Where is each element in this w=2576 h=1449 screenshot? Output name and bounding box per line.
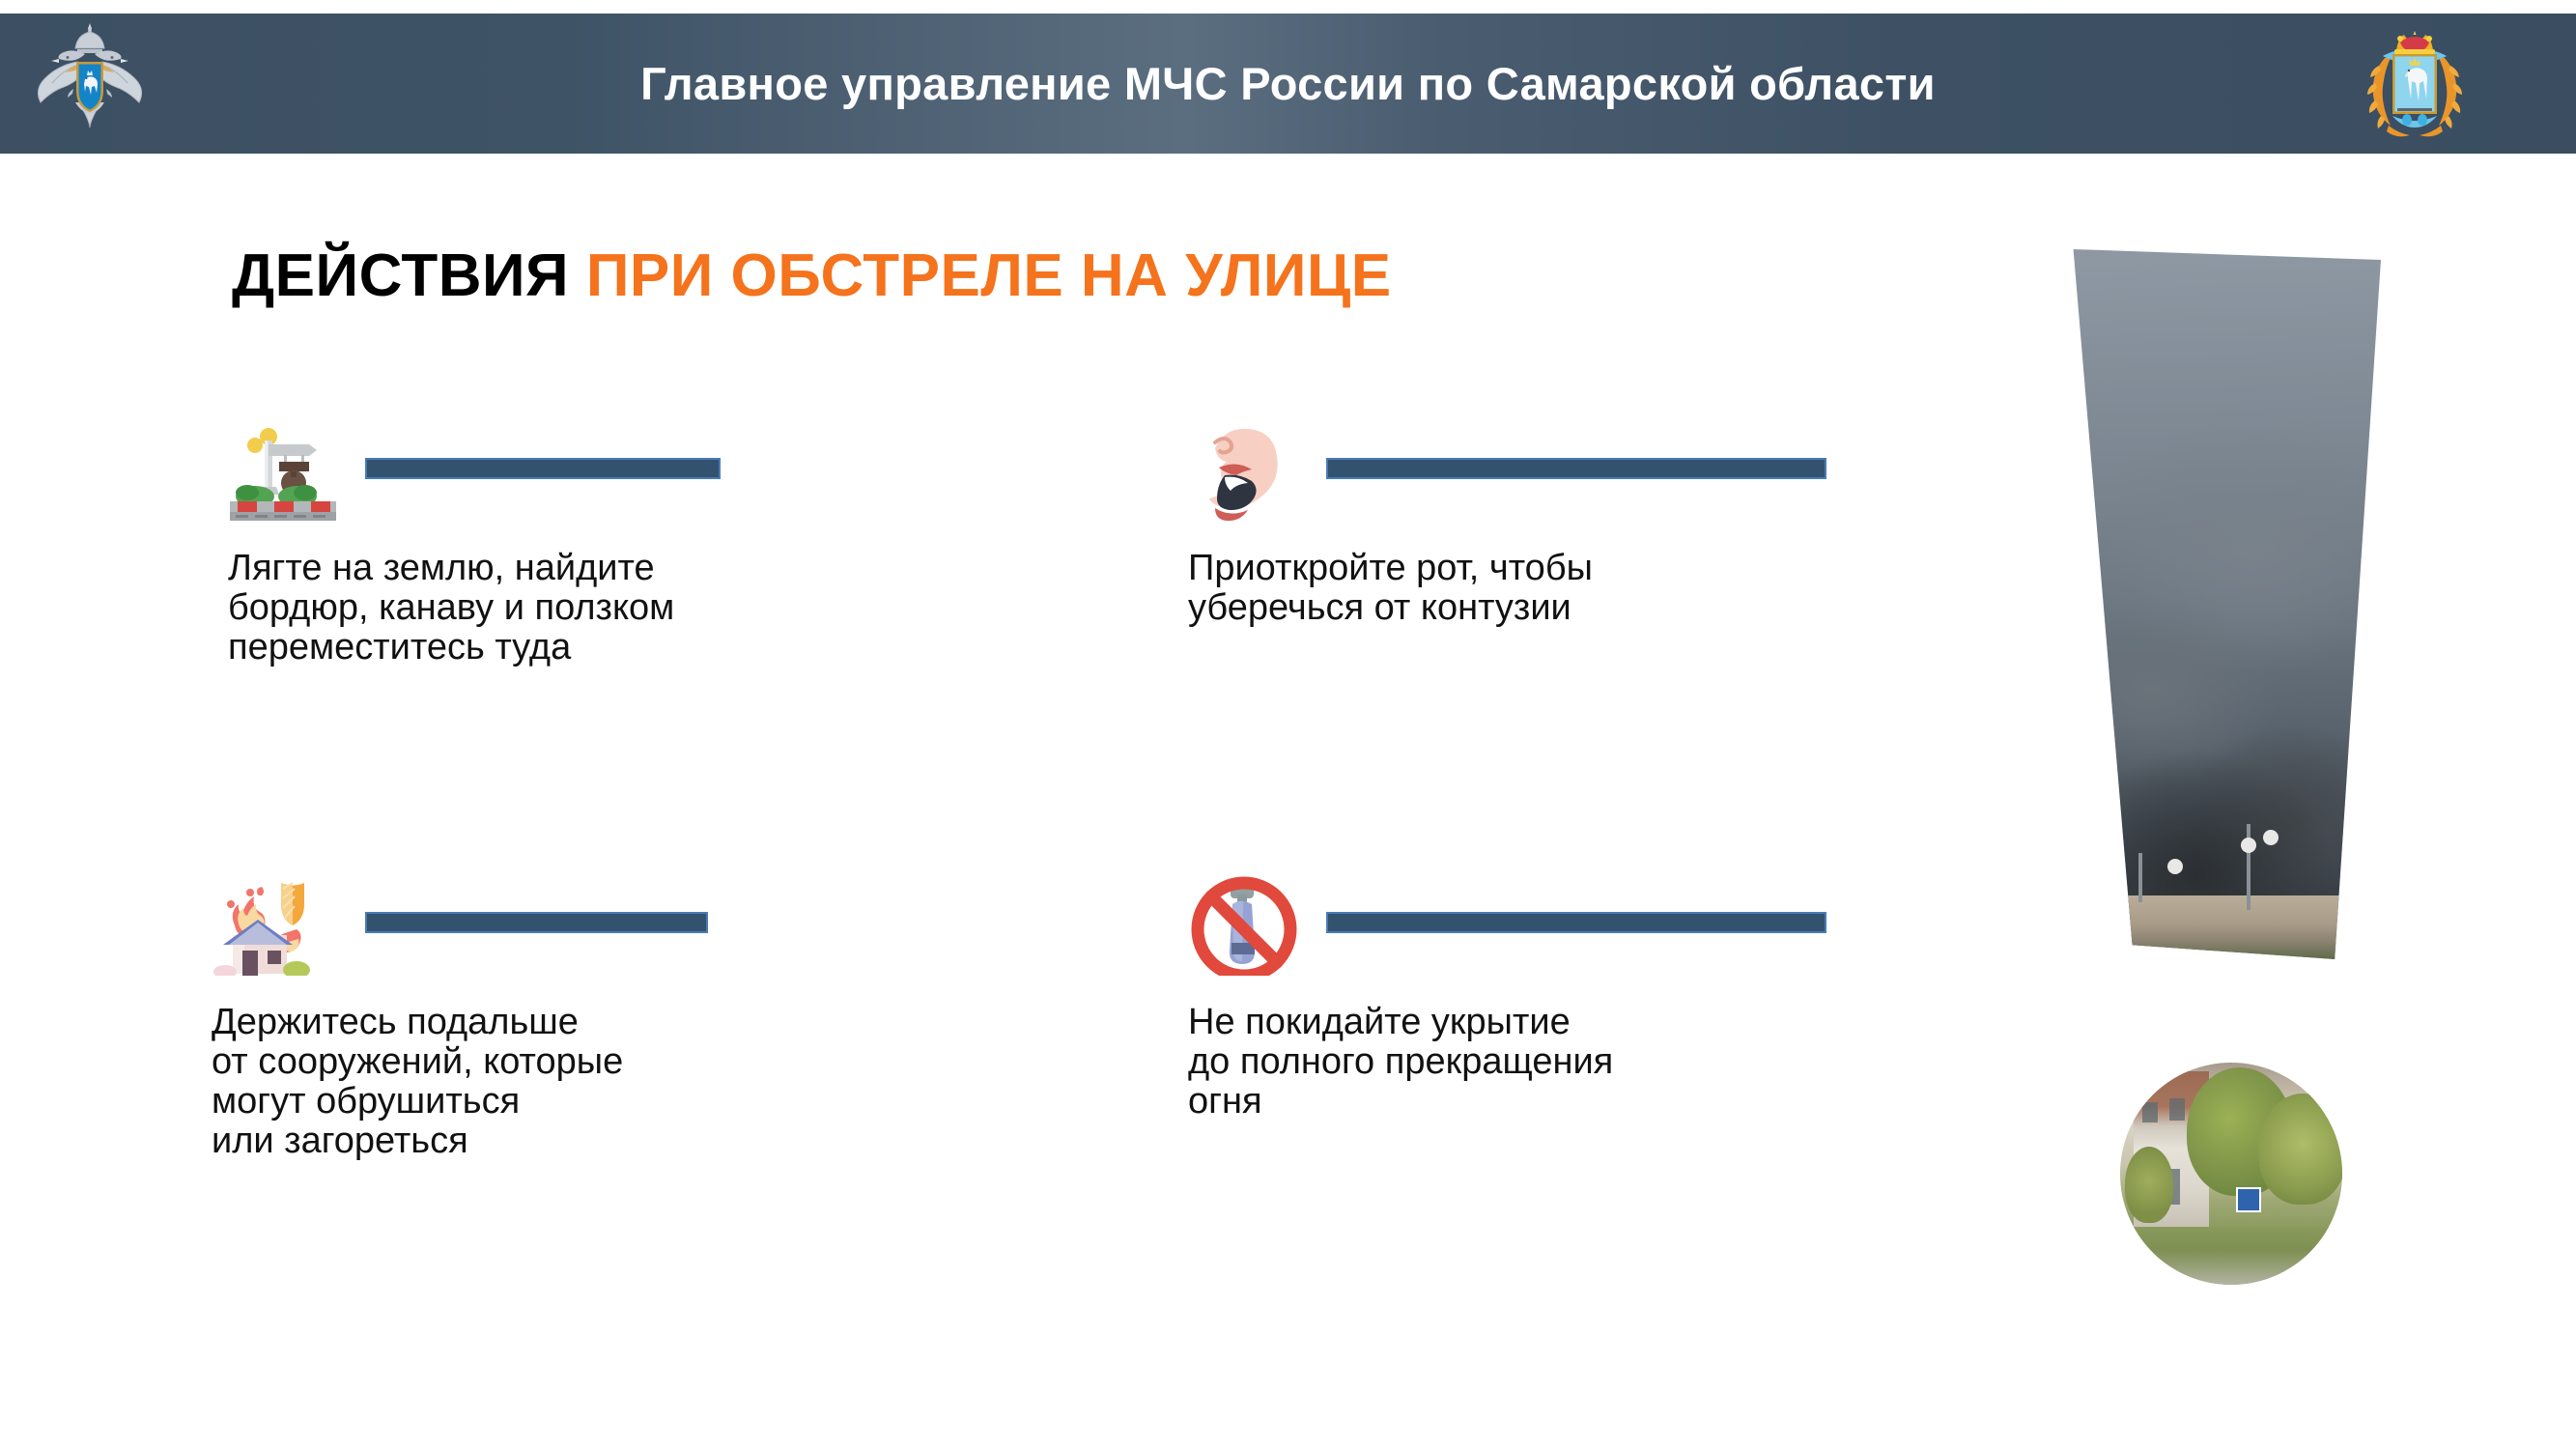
card-1-text: Лягте на землю, найдите бордюр, канаву и… (228, 549, 674, 668)
satellite-dish (2241, 838, 2256, 853)
card-4-text: Не покидайте укрытие до полного прекраще… (1188, 1003, 1613, 1122)
advice-card-4: Не покидайте укрытие до полного прекраще… (1186, 869, 1613, 1122)
header-bar: Главное управление МЧС России по Самарск… (0, 14, 2576, 154)
open-mouth-icon (1186, 415, 1312, 522)
burning-house-shield-icon (208, 869, 333, 976)
rooftop (2062, 895, 2381, 959)
tree (2125, 1147, 2174, 1222)
card-4-divider-bar (1326, 912, 1826, 933)
no-gas-cylinder-icon (1186, 869, 1312, 976)
advice-card-1: Лягте на землю, найдите бордюр, канаву и… (220, 415, 674, 668)
tree (2258, 1094, 2342, 1205)
roadside-curb-signpost-icon (220, 415, 346, 522)
building-window (2169, 1098, 2185, 1121)
card-3-divider-bar (365, 912, 708, 933)
card-1-divider-bar (365, 458, 721, 479)
grass-and-sidewalk (2120, 1227, 2342, 1285)
smoke-plume-over-rooftop-photo (2062, 249, 2381, 959)
emercom-russia-emblem (27, 19, 153, 150)
advice-card-3: Держитесь подальше от сооружений, которы… (208, 869, 623, 1161)
building-window (2142, 1102, 2158, 1122)
satellite-dish (2263, 830, 2279, 845)
card-2-divider-bar (1326, 458, 1826, 479)
header-title: Главное управление МЧС России по Самарск… (640, 57, 1936, 110)
page-title-orange: ПРИ ОБСТРЕЛЕ НА УЛИЦЕ (586, 242, 1392, 309)
satellite-dish (2167, 859, 2183, 874)
card-2-head (1186, 415, 1593, 522)
advice-card-2: Приоткройте рот, чтобы уберечься от конт… (1186, 415, 1593, 628)
samara-oblast-coat-of-arms (2354, 23, 2476, 149)
page-title-black: ДЕЙСТВИЯ (232, 242, 569, 309)
pedestrian-crossing-sign (2236, 1187, 2261, 1212)
card-3-text: Держитесь подальше от сооружений, которы… (212, 1003, 623, 1161)
card-4-head (1186, 869, 1613, 976)
card-1-head (220, 415, 674, 522)
card-2-text: Приоткройте рот, чтобы уберечься от конт… (1188, 549, 1593, 628)
street-with-trees-photo (2120, 1063, 2342, 1285)
page-title: ДЕЙСТВИЯ ПРИ ОБСТРЕЛЕ НА УЛИЦЕ (232, 241, 1392, 310)
card-3-head (208, 869, 623, 976)
antenna-mast (2138, 853, 2142, 902)
